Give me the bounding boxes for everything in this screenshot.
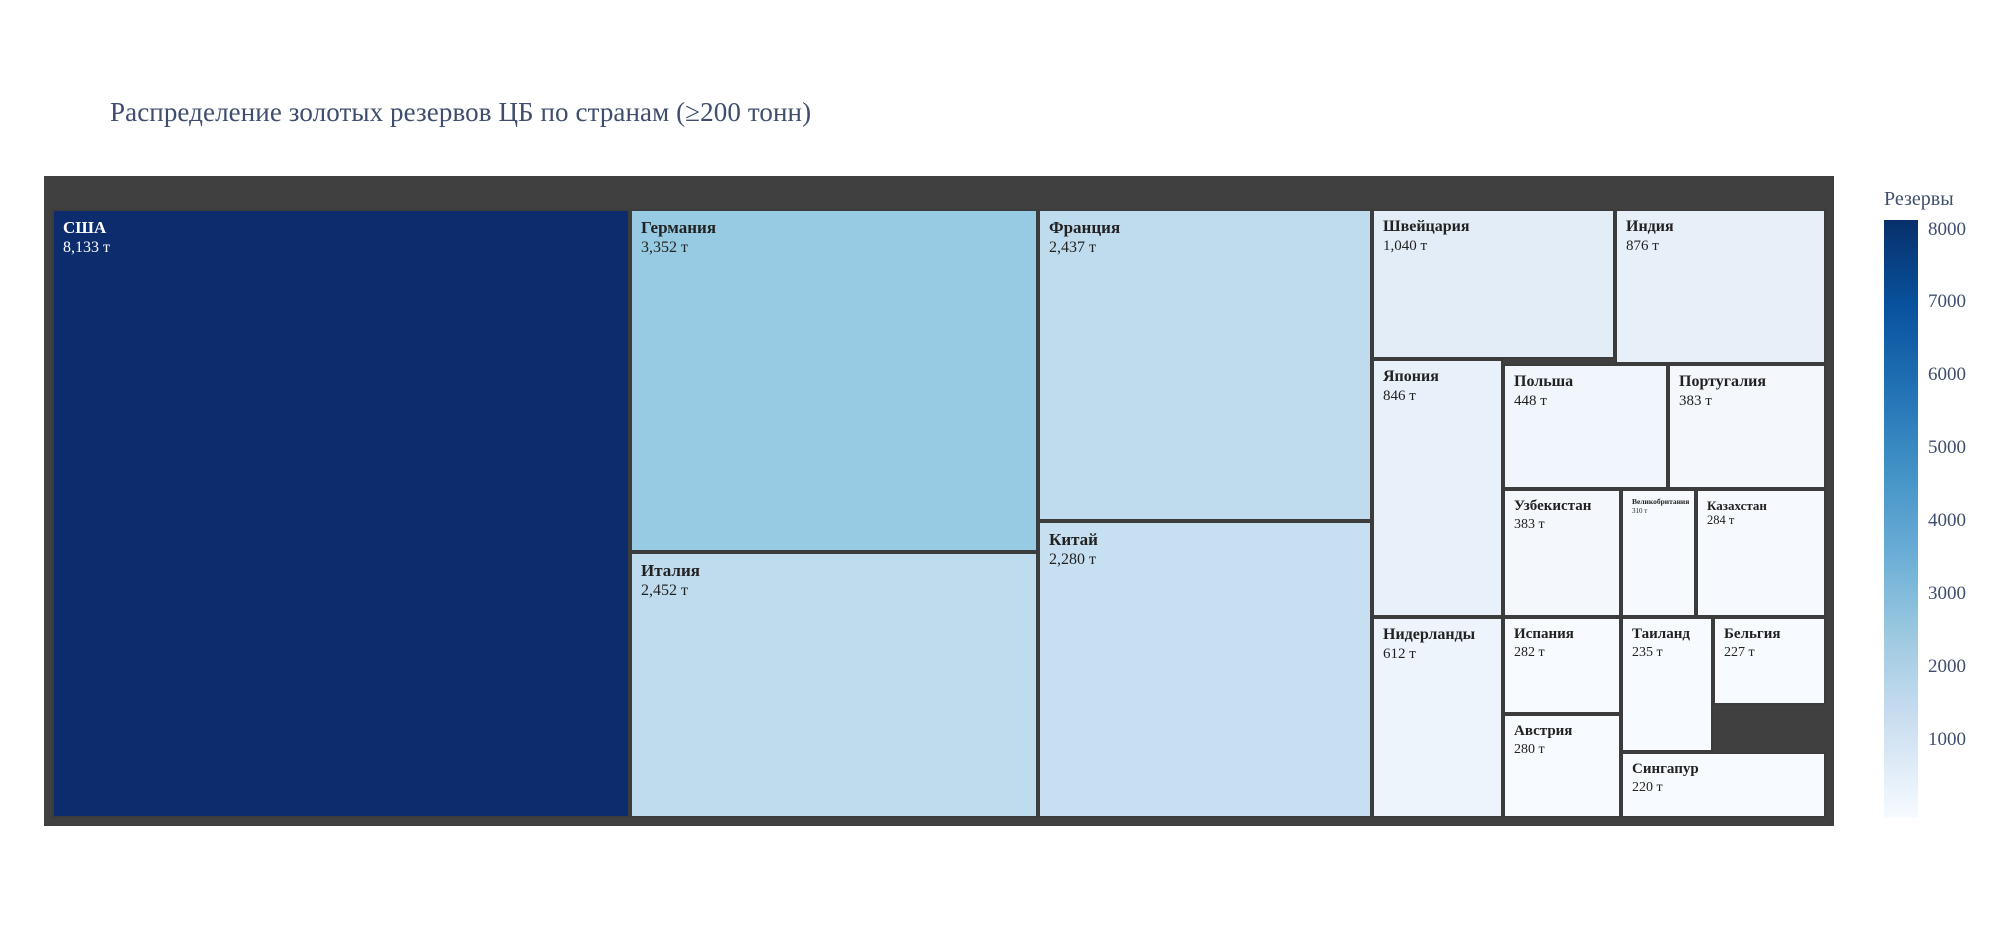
tile-value: 282 т <box>1514 644 1619 662</box>
tile-value: 612 т <box>1383 645 1501 664</box>
treemap-tile-united-kingdom[interactable]: Великобритания 310 т <box>1621 489 1696 617</box>
colorbar-gradient <box>1884 220 1918 818</box>
tile-value: 8,133 т <box>63 238 628 258</box>
tile-value: 280 т <box>1514 741 1619 759</box>
treemap-tile-portugal[interactable]: Португалия 383 т <box>1668 364 1826 489</box>
tile-label: Германия <box>641 218 1036 238</box>
treemap-tile-netherlands[interactable]: Нидерланды 612 т <box>1372 617 1503 818</box>
tile-label: Таиланд <box>1632 626 1711 644</box>
tile-value: 2,437 т <box>1049 238 1370 258</box>
tile-label: Швейцария <box>1383 218 1613 237</box>
treemap-tile-kazakhstan[interactable]: Казахстан 284 т <box>1696 489 1826 617</box>
treemap-tile-switzerland[interactable]: Швейцария 1,040 т <box>1372 209 1615 359</box>
tile-value: 846 т <box>1383 387 1501 406</box>
treemap-tile-uzbekistan[interactable]: Узбекистан 383 т <box>1503 489 1621 617</box>
treemap-tile-spain[interactable]: Испания 282 т <box>1503 617 1621 714</box>
tile-value: 448 т <box>1514 392 1666 411</box>
colorbar-tick-4000: 4000 <box>1928 510 1966 532</box>
tile-label: Нидерланды <box>1383 626 1501 645</box>
tile-value: 227 т <box>1724 644 1824 662</box>
treemap-tile-belgium[interactable]: Бельгия 227 т <box>1713 617 1826 705</box>
tile-label: Сингапур <box>1632 761 1824 779</box>
treemap-frame: США 8,133 т Германия 3,352 т Италия 2,45… <box>44 176 1834 826</box>
treemap-tile-india[interactable]: Индия 876 т <box>1615 209 1826 364</box>
tile-value: 3,352 т <box>641 238 1036 258</box>
tile-label: Бельгия <box>1724 626 1824 644</box>
colorbar-title: Резервы <box>1884 188 1954 211</box>
treemap-page: Распределение золотых резервов ЦБ по стр… <box>0 0 2000 940</box>
tile-value: 235 т <box>1632 644 1711 662</box>
tile-label: Польша <box>1514 373 1666 392</box>
treemap-tile-usa[interactable]: США 8,133 т <box>52 209 630 818</box>
tile-label: Великобритания <box>1632 498 1694 507</box>
treemap-tile-italy[interactable]: Италия 2,452 т <box>630 552 1038 818</box>
treemap-tile-austria[interactable]: Австрия 280 т <box>1503 714 1621 818</box>
tile-value: 383 т <box>1679 392 1824 411</box>
colorbar-tick-5000: 5000 <box>1928 437 1966 459</box>
treemap-plot: США 8,133 т Германия 3,352 т Италия 2,45… <box>52 209 1826 818</box>
tile-value: 310 т <box>1632 507 1694 516</box>
colorbar-tick-8000: 8000 <box>1928 219 1966 241</box>
colorbar-tick-3000: 3000 <box>1928 583 1966 605</box>
page-title: Распределение золотых резервов ЦБ по стр… <box>110 97 811 128</box>
tile-label: Индия <box>1626 218 1824 237</box>
treemap-tile-germany[interactable]: Германия 3,352 т <box>630 209 1038 552</box>
treemap-tile-japan[interactable]: Япония 846 т <box>1372 359 1503 617</box>
tile-label: Узбекистан <box>1514 498 1619 516</box>
tile-label: Португалия <box>1679 373 1824 392</box>
tile-label: Италия <box>641 561 1036 581</box>
treemap-tile-singapore[interactable]: Сингапур 220 т <box>1621 752 1826 818</box>
treemap-tile-thailand[interactable]: Таиланд 235 т <box>1621 617 1713 752</box>
tile-label: США <box>63 218 628 238</box>
tile-value: 284 т <box>1707 513 1824 529</box>
treemap-tile-china[interactable]: Китай 2,280 т <box>1038 521 1372 818</box>
tile-value: 383 т <box>1514 516 1619 534</box>
tile-value: 220 т <box>1632 779 1824 797</box>
tile-value: 2,452 т <box>641 581 1036 601</box>
colorbar-tick-2000: 2000 <box>1928 656 1966 678</box>
colorbar-tick-7000: 7000 <box>1928 291 1966 313</box>
tile-label: Япония <box>1383 368 1501 387</box>
tile-value: 1,040 т <box>1383 237 1613 256</box>
tile-label: Испания <box>1514 626 1619 644</box>
tile-label: Китай <box>1049 530 1370 550</box>
colorbar-tick-6000: 6000 <box>1928 364 1966 386</box>
tile-label: Австрия <box>1514 723 1619 741</box>
treemap-tile-poland[interactable]: Польша 448 т <box>1503 364 1668 489</box>
tile-value: 2,280 т <box>1049 550 1370 570</box>
tile-label: Казахстан <box>1707 498 1824 513</box>
tile-value: 876 т <box>1626 237 1824 256</box>
colorbar-tick-1000: 1000 <box>1928 729 1966 751</box>
tile-label: Франция <box>1049 218 1370 238</box>
treemap-tile-france[interactable]: Франция 2,437 т <box>1038 209 1372 521</box>
